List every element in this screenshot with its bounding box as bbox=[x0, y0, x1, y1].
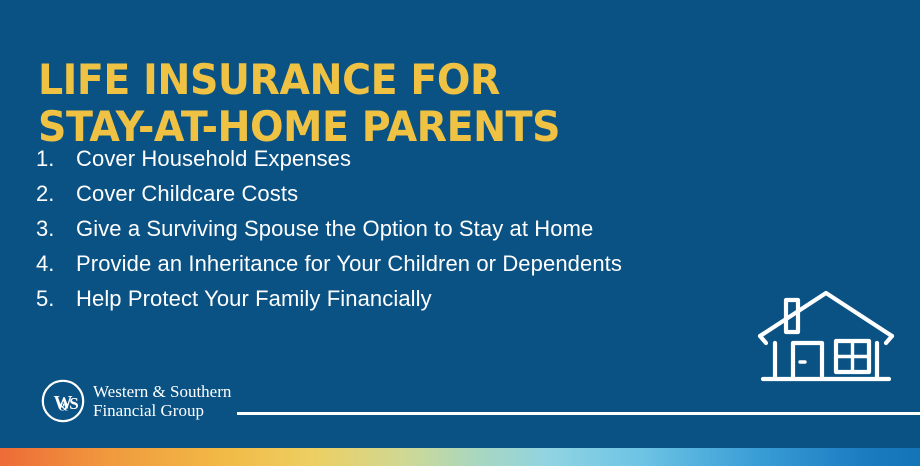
page-title: LIFE INSURANCE FOR STAY-AT-HOME PARENTS bbox=[38, 56, 738, 150]
page-title-line-1: LIFE INSURANCE FOR bbox=[38, 56, 696, 103]
list-item-number: 5. bbox=[36, 281, 76, 316]
list-item-label: Help Protect Your Family Financially bbox=[76, 281, 836, 316]
logo-wordmark: Western & Southern Financial Group bbox=[93, 382, 231, 420]
svg-text:S: S bbox=[69, 394, 78, 413]
list-item-number: 4. bbox=[36, 246, 76, 281]
list-item-label: Provide an Inheritance for Your Children… bbox=[76, 246, 836, 281]
logo-name-line-1: Western & Southern bbox=[93, 382, 231, 401]
benefit-list: 1. Cover Household Expenses 2. Cover Chi… bbox=[36, 141, 836, 316]
logo-name-line-2: Financial Group bbox=[93, 401, 231, 420]
logo: W & S Western & Southern Financial Group bbox=[40, 378, 231, 424]
svg-text:&: & bbox=[59, 402, 68, 414]
ws-monogram-icon: W & S bbox=[40, 378, 86, 424]
list-item: 5. Help Protect Your Family Financially bbox=[36, 281, 836, 316]
list-item-number: 2. bbox=[36, 176, 76, 211]
list-item-label: Cover Household Expenses bbox=[76, 141, 836, 176]
list-item: 1. Cover Household Expenses bbox=[36, 141, 836, 176]
list-item: 2. Cover Childcare Costs bbox=[36, 176, 836, 211]
house-icon bbox=[756, 288, 896, 386]
list-item: 4. Provide an Inheritance for Your Child… bbox=[36, 246, 836, 281]
list-item-number: 1. bbox=[36, 141, 76, 176]
list-item-number: 3. bbox=[36, 211, 76, 246]
brand-gradient-bar bbox=[0, 448, 920, 466]
infographic-canvas: LIFE INSURANCE FOR STAY-AT-HOME PARENTS … bbox=[0, 0, 920, 466]
list-item-label: Give a Surviving Spouse the Option to St… bbox=[76, 211, 836, 246]
list-item: 3. Give a Surviving Spouse the Option to… bbox=[36, 211, 836, 246]
list-item-label: Cover Childcare Costs bbox=[76, 176, 836, 211]
divider bbox=[237, 412, 920, 415]
